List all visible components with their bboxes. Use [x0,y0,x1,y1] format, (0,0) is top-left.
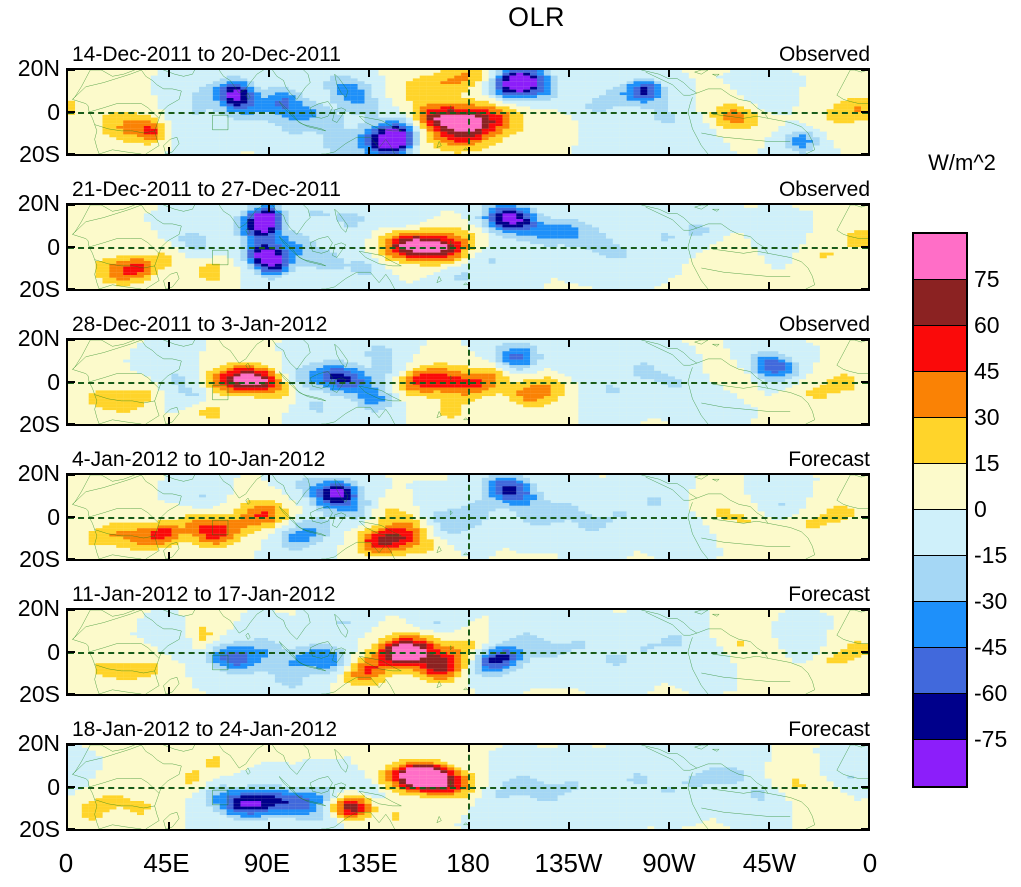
x-axis-label: 135E [328,850,408,876]
panel-kind-label-1: Observed [670,44,870,65]
y-axis-label: 0 [0,101,60,124]
map-panel-2 [66,203,870,291]
dateline-meridian [468,745,470,829]
y-tick [861,111,868,113]
y-tick [861,246,868,248]
x-tick [768,552,770,559]
x-tick [468,610,470,617]
x-tick [468,745,470,752]
y-axis-label: 0 [0,776,60,799]
panel-date-label-1: 14-Dec-2011 to 20-Dec-2011 [72,44,341,65]
y-tick [68,693,75,695]
x-tick [568,147,570,154]
x-tick [568,552,570,559]
y-tick [68,744,75,746]
x-tick [468,552,470,559]
x-axis-label: 90W [629,850,709,876]
x-tick [568,610,570,617]
x-tick [268,70,270,77]
x-tick [268,475,270,482]
x-tick [268,340,270,347]
x-tick [468,205,470,212]
x-tick [168,70,170,77]
colorbar-tick-label: -75 [974,728,1007,751]
colorbar-unit-label: W/m^2 [912,150,1012,176]
x-tick [368,205,370,212]
y-axis-label: 20S [0,548,60,571]
map-panel-6 [66,743,870,831]
x-tick [668,205,670,212]
colorbar-tick-label: 0 [974,498,987,521]
x-tick [168,340,170,347]
panel-date-label-3: 28-Dec-2011 to 3-Jan-2012 [72,314,327,335]
colorbar-tick-label: -30 [974,590,1007,613]
colorbar-band-5 [914,464,966,510]
map-panel-4 [66,473,870,561]
x-tick [768,610,770,617]
colorbar-band-6 [914,510,966,556]
x-tick [768,687,770,694]
y-axis-label: 20S [0,683,60,706]
x-tick [368,417,370,424]
y-tick [68,474,75,476]
colorbar-band-0 [914,234,966,280]
panel-date-label-4: 4-Jan-2012 to 10-Jan-2012 [72,449,325,470]
dateline-meridian [468,340,470,424]
x-axis-label: 135W [529,850,609,876]
x-tick [268,745,270,752]
figure-title-text: OLR [508,2,565,32]
x-tick [568,70,570,77]
x-tick [268,552,270,559]
x-tick [768,475,770,482]
y-axis-label: 20N [0,462,60,485]
x-tick [668,147,670,154]
x-tick [668,687,670,694]
y-axis-label: 20N [0,327,60,350]
x-tick [468,147,470,154]
colorbar-band-8 [914,602,966,648]
panel-kind-label-2: Observed [670,179,870,200]
y-tick [861,204,868,206]
y-tick [68,246,75,248]
x-tick [368,475,370,482]
y-tick [68,111,75,113]
map-panel-3 [66,338,870,426]
colorbar-band-3 [914,372,966,418]
y-tick [68,69,75,71]
x-axis-label: 45E [127,850,207,876]
map-panel-1 [66,68,870,156]
x-tick [468,417,470,424]
x-tick [368,70,370,77]
y-tick [861,474,868,476]
x-axis-label: 0 [830,850,910,876]
colorbar-tick-label: -60 [974,682,1007,705]
y-axis-label: 20S [0,278,60,301]
x-tick [668,745,670,752]
x-tick [468,340,470,347]
y-axis-label: 0 [0,641,60,664]
y-tick [861,558,868,560]
x-tick [768,282,770,289]
x-tick [368,552,370,559]
y-axis-label: 20N [0,597,60,620]
dateline-meridian [468,610,470,694]
x-tick [768,417,770,424]
x-tick [368,340,370,347]
y-tick [68,786,75,788]
colorbar-band-1 [914,280,966,326]
y-tick [68,558,75,560]
y-tick [68,288,75,290]
y-tick [861,423,868,425]
colorbar-tick-label: 60 [974,314,1000,337]
x-tick [568,417,570,424]
x-tick [768,147,770,154]
colorbar-tick-label: 75 [974,268,1000,291]
dateline-meridian [468,205,470,289]
x-tick [268,417,270,424]
colorbar-tick-label: 45 [974,360,1000,383]
x-tick [768,205,770,212]
y-tick [68,339,75,341]
x-tick [168,610,170,617]
panel-date-label-6: 18-Jan-2012 to 24-Jan-2012 [72,719,337,740]
y-tick [861,516,868,518]
x-tick [668,475,670,482]
x-tick [668,70,670,77]
x-tick [468,822,470,829]
x-tick [568,340,570,347]
x-tick [668,340,670,347]
x-tick [668,822,670,829]
panel-kind-label-3: Observed [670,314,870,335]
x-axis-label: 90E [227,850,307,876]
y-axis-label: 20S [0,413,60,436]
y-tick [861,339,868,341]
x-tick [168,822,170,829]
panel-date-label-2: 21-Dec-2011 to 27-Dec-2011 [72,179,341,200]
colorbar [912,232,968,788]
x-tick [368,147,370,154]
x-tick [168,475,170,482]
colorbar-band-2 [914,326,966,372]
y-tick [861,69,868,71]
panel-kind-label-4: Forecast [670,449,870,470]
panel-kind-label-6: Forecast [670,719,870,740]
y-tick [861,381,868,383]
colorbar-band-10 [914,694,966,740]
x-tick [468,282,470,289]
x-tick [268,687,270,694]
y-tick [861,786,868,788]
y-axis-label: 20N [0,57,60,80]
y-axis-label: 20S [0,818,60,841]
y-axis-label: 0 [0,506,60,529]
x-tick [168,205,170,212]
y-axis-label: 20N [0,192,60,215]
figure-title: OLR [0,2,1021,33]
y-tick [861,609,868,611]
x-tick [568,282,570,289]
colorbar-tick-label: -15 [974,544,1007,567]
x-tick [268,205,270,212]
x-tick [768,70,770,77]
colorbar-band-4 [914,418,966,464]
x-axis-label: 45W [730,850,810,876]
y-tick [68,381,75,383]
x-axis-label: 180 [428,850,508,876]
x-tick [268,822,270,829]
panel-date-label-5: 11-Jan-2012 to 17-Jan-2012 [72,584,335,605]
x-tick [368,822,370,829]
y-axis-label: 20N [0,732,60,755]
x-tick [168,147,170,154]
x-tick [568,822,570,829]
x-tick [568,205,570,212]
x-tick [468,70,470,77]
x-tick [768,745,770,752]
x-tick [168,552,170,559]
colorbar-band-11 [914,740,966,786]
x-tick [568,475,570,482]
x-tick [168,687,170,694]
y-axis-label: 0 [0,371,60,394]
x-tick [368,745,370,752]
x-tick [768,340,770,347]
y-tick [861,744,868,746]
x-tick [568,687,570,694]
colorbar-tick-label: -45 [974,636,1007,659]
x-tick [668,610,670,617]
y-tick [861,288,868,290]
x-tick [368,610,370,617]
y-tick [68,204,75,206]
x-tick [268,610,270,617]
map-panel-5 [66,608,870,696]
colorbar-band-7 [914,556,966,602]
y-tick [68,516,75,518]
x-tick [668,282,670,289]
panel-kind-label-5: Forecast [670,584,870,605]
y-axis-label: 20S [0,143,60,166]
y-tick [861,651,868,653]
y-tick [861,828,868,830]
y-tick [68,153,75,155]
x-tick [468,687,470,694]
y-tick [68,423,75,425]
x-tick [268,282,270,289]
x-tick [168,417,170,424]
colorbar-tick-label: 15 [974,452,1000,475]
x-axis-label: 0 [26,850,106,876]
x-tick [468,475,470,482]
y-tick [68,828,75,830]
x-tick [368,687,370,694]
y-tick [68,609,75,611]
x-tick [768,822,770,829]
y-tick [68,651,75,653]
x-tick [168,745,170,752]
colorbar-band-9 [914,648,966,694]
x-tick [668,417,670,424]
dateline-meridian [468,70,470,154]
x-tick [268,147,270,154]
x-tick [368,282,370,289]
x-tick [168,282,170,289]
y-tick [861,693,868,695]
y-tick [861,153,868,155]
x-tick [668,552,670,559]
colorbar-tick-label: 30 [974,406,1000,429]
y-axis-label: 0 [0,236,60,259]
dateline-meridian [468,475,470,559]
x-tick [568,745,570,752]
